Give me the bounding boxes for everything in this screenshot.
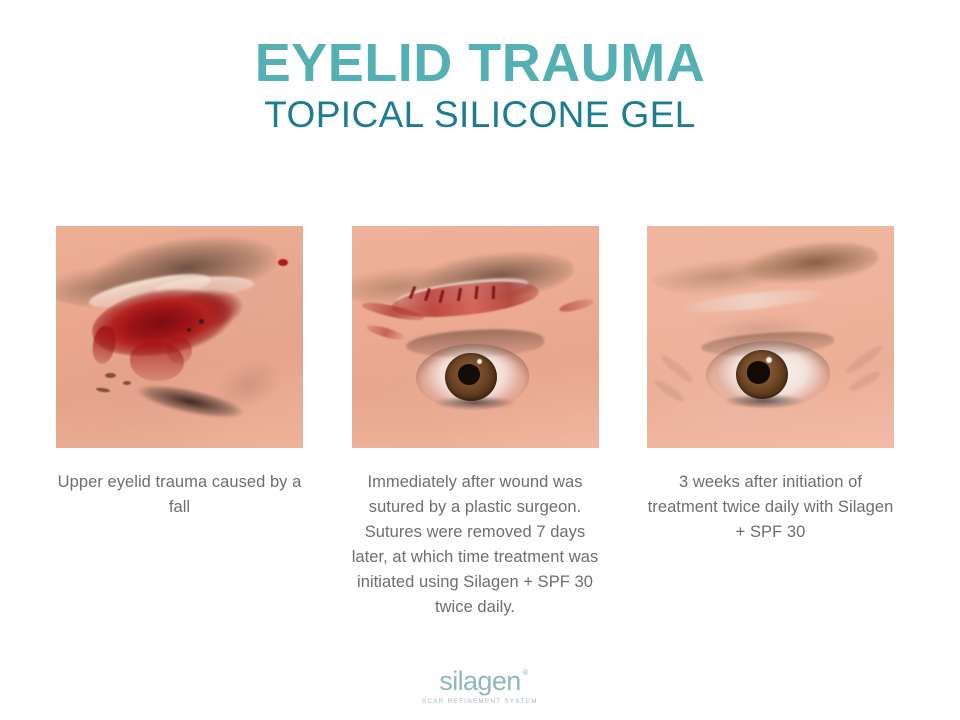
slide: EYELID TRAUMA TOPICAL SILICONE GEL [0, 0, 960, 720]
clinical-photo-after-suturing [352, 226, 599, 448]
panel-caption: 3 weeks after initiation of treatment tw… [647, 470, 894, 545]
clinical-photo-3-weeks-treatment [647, 226, 894, 448]
page-title: EYELID TRAUMA [0, 34, 960, 92]
logo-wordmark-text: silagen [439, 666, 520, 696]
panel-caption: Immediately after wound was sutured by a… [352, 470, 599, 620]
skin-wrinkle [844, 343, 885, 376]
page-subtitle: TOPICAL SILICONE GEL [0, 94, 960, 137]
dried-blood-fleck [187, 328, 191, 332]
lower-eyelashes [421, 397, 530, 417]
registered-trademark-icon: ® [522, 669, 527, 677]
slide-header: EYELID TRAUMA TOPICAL SILICONE GEL [0, 34, 960, 137]
blood-streak [167, 337, 192, 364]
corneal-glint [766, 357, 772, 363]
panel-caption: Upper eyelid trauma caused by a fall [56, 470, 303, 520]
lower-eyelashes [714, 395, 818, 417]
dried-blood-fleck [95, 387, 109, 393]
skin-wrinkle [659, 352, 695, 384]
dried-blood-trail [366, 323, 406, 342]
dried-blood-fleck [123, 381, 131, 385]
skin-wrinkle [847, 369, 881, 394]
photo-panel-row: Upper eyelid trauma caused by a fall [56, 226, 894, 620]
silagen-logo: silagen ® SCAR REFINEMENT SYSTEM [0, 668, 960, 705]
dried-blood-trail [558, 297, 594, 314]
panel-after-suturing: Immediately after wound was sutured by a… [352, 226, 599, 620]
pupil [747, 361, 770, 383]
blood-spot [278, 259, 288, 266]
dried-blood-fleck [105, 373, 116, 378]
logo-wordmark: silagen ® [439, 668, 520, 695]
logo-tagline: SCAR REFINEMENT SYSTEM [0, 698, 960, 705]
pupil [458, 364, 480, 385]
clinical-photo-initial-trauma [56, 226, 303, 448]
panel-3-weeks-treatment: 3 weeks after initiation of treatment tw… [647, 226, 894, 620]
panel-initial-trauma: Upper eyelid trauma caused by a fall [56, 226, 303, 620]
skin-wrinkle [652, 377, 686, 404]
